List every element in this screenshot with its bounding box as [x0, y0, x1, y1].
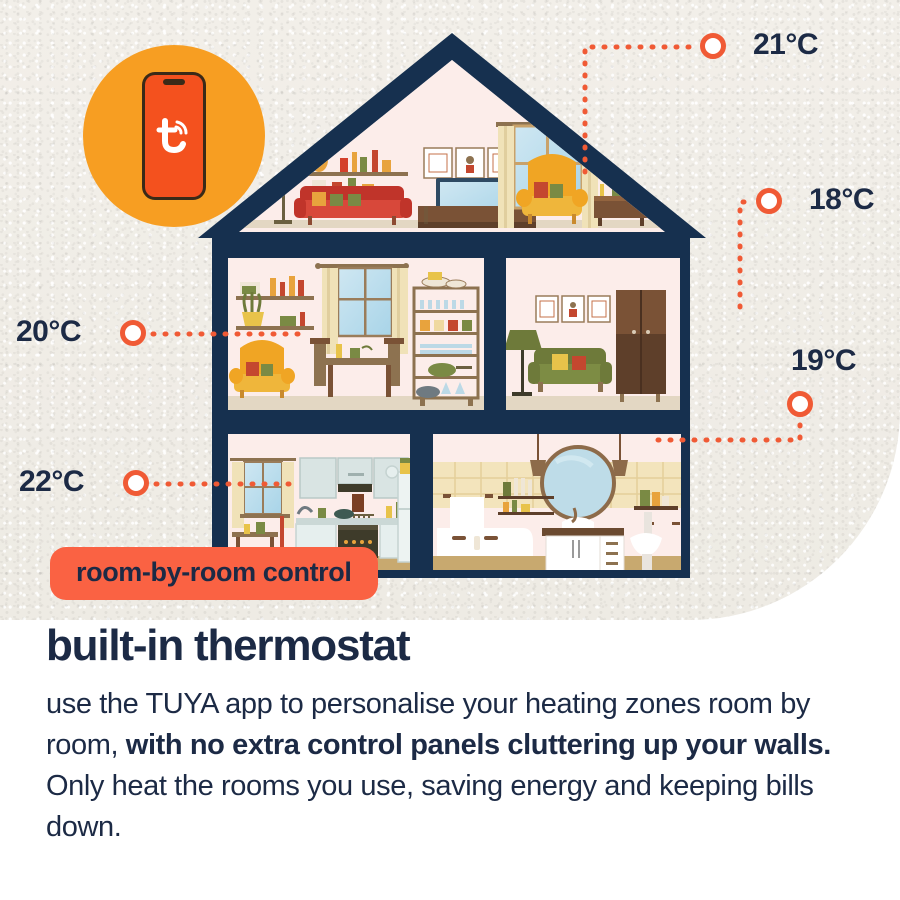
tuya-logo-icon: [151, 115, 197, 161]
smartphone-frame: [142, 72, 206, 200]
temp-dot-icon[interactable]: [787, 391, 813, 417]
round-mirror: [542, 447, 614, 519]
smartphone-screen: [145, 75, 203, 197]
temp-dot-icon[interactable]: [756, 188, 782, 214]
copy-block: built-in thermostat use the TUYA app to …: [46, 622, 876, 848]
body-text-bold: with no extra control panels cluttering …: [126, 729, 831, 761]
temp-value-22: 22°C: [19, 465, 84, 499]
pill-label: room-by-room control: [76, 557, 352, 587]
temp-value-20: 20°C: [16, 315, 81, 349]
body-text-2: Only heat the rooms you use, saving ener…: [46, 770, 814, 843]
temp-dot-icon[interactable]: [700, 33, 726, 59]
phone-notch: [163, 79, 185, 85]
room-by-room-pill: room-by-room control: [50, 547, 378, 600]
temp-value-18: 18°C: [809, 183, 874, 217]
body-copy: use the TUYA app to personalise your hea…: [46, 684, 876, 849]
tuya-app-badge[interactable]: [83, 45, 265, 227]
page-title: built-in thermostat: [46, 622, 876, 670]
temp-value-21: 21°C: [753, 28, 818, 62]
wardrobe: [616, 290, 666, 402]
temp-dot-icon[interactable]: [120, 320, 146, 346]
bathtub: [437, 528, 533, 556]
temp-value-19: 19°C: [791, 344, 856, 378]
temp-dot-icon[interactable]: [123, 470, 149, 496]
